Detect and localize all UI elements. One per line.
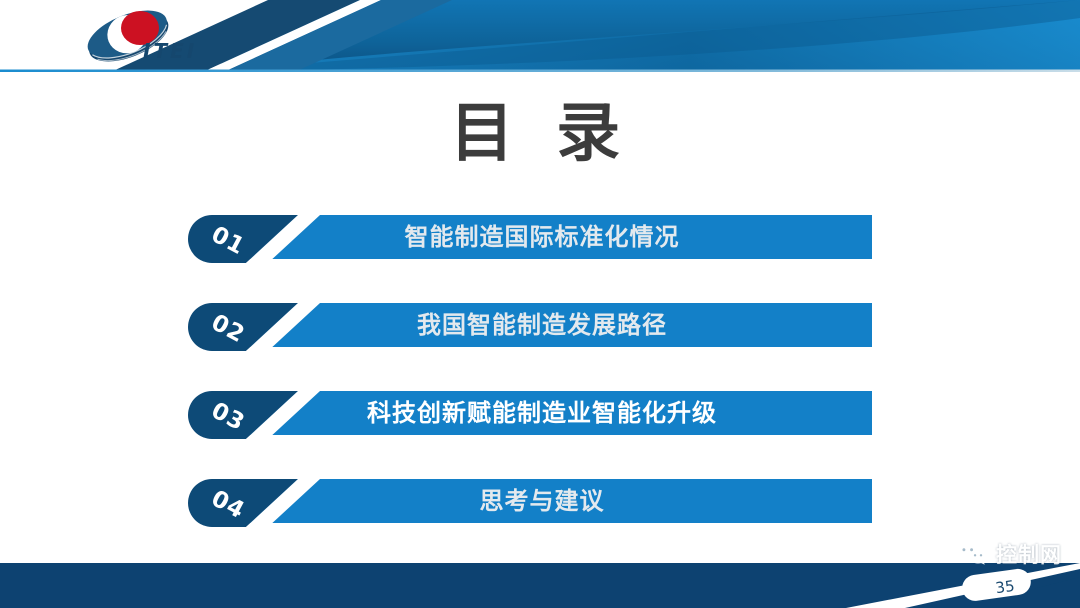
page-title: 目 录 xyxy=(0,98,1080,170)
toc-label: 科技创新赋能制造业智能化升级 xyxy=(212,391,872,435)
toc-item-03[interactable]: 03 科技创新赋能制造业智能化升级 xyxy=(0,391,1080,435)
slide-canvas: ITEI 目 录 01 智能制造国际标准化情况 xyxy=(0,0,1080,608)
footer-graphic xyxy=(0,563,1080,608)
toc-label: 智能制造国际标准化情况 xyxy=(212,215,872,259)
itei-wordmark: ITEI xyxy=(143,39,197,63)
watermark: 控制网 xyxy=(955,538,1062,570)
toc-item-01[interactable]: 01 智能制造国际标准化情况 xyxy=(0,215,1080,259)
toc-label: 我国智能制造发展路径 xyxy=(212,303,872,347)
wechat-icon xyxy=(955,540,989,568)
itei-logo: ITEI xyxy=(68,8,218,66)
toc-item-04[interactable]: 04 思考与建议 xyxy=(0,479,1080,523)
header-banner: ITEI xyxy=(0,0,1080,80)
toc-label: 思考与建议 xyxy=(212,479,872,523)
footer-banner xyxy=(0,563,1080,608)
toc-list: 01 智能制造国际标准化情况 02 我国智能制造发展路径 xyxy=(0,215,1080,567)
itei-logo-mark: ITEI xyxy=(68,8,218,66)
toc-item-02[interactable]: 02 我国智能制造发展路径 xyxy=(0,303,1080,347)
watermark-text: 控制网 xyxy=(996,539,1062,569)
